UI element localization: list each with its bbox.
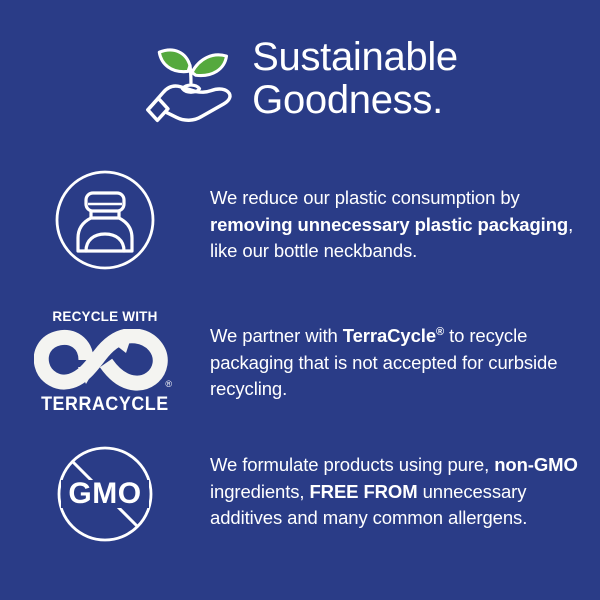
text-segment: We reduce our plastic consumption by: [210, 187, 520, 208]
feature-row-gmo: GMO We formulate products using pure, no…: [0, 442, 600, 546]
feature-row-terracycle: RECYCLE WITH ® TERRACYCLE We par: [0, 305, 600, 416]
text-segment-bold: removing unnecessary plastic packaging: [210, 214, 568, 235]
feature-row-plastic: We reduce our plastic consumption by rem…: [0, 168, 600, 272]
registered-trademark-superscript: ®: [436, 326, 444, 338]
text-segment-bold: FREE FROM: [309, 481, 417, 502]
text-segment-bold: TerraCycle: [343, 325, 436, 346]
feature-text-plastic: We reduce our plastic consumption by rem…: [210, 185, 584, 265]
text-segment: ingredients,: [210, 481, 309, 502]
header: Sustainable Goodness.: [0, 22, 600, 134]
sustainable-goodness-infographic: Sustainable Goodness.: [0, 0, 600, 600]
text-segment: We formulate products using pure,: [210, 454, 494, 475]
text-segment-bold: non-GMO: [494, 454, 578, 475]
terracycle-bottom-label: TERRACYCLE: [41, 394, 169, 416]
feature-text-gmo: We formulate products using pure, non-GM…: [210, 452, 584, 532]
infinity-recycle-arrows-icon: ®: [34, 329, 176, 391]
text-cell: We reduce our plastic consumption by rem…: [210, 168, 600, 265]
text-segment: We partner with: [210, 325, 343, 346]
hand-holding-sprout-icon: [142, 33, 238, 129]
icon-cell: [0, 168, 210, 272]
text-cell: We partner with TerraCycle® to recycle p…: [210, 305, 600, 403]
registered-trademark-icon: ®: [165, 380, 172, 389]
icon-cell: GMO: [0, 442, 210, 546]
bottle-neckband-icon: [53, 168, 157, 272]
text-cell: We formulate products using pure, non-GM…: [210, 442, 600, 532]
terracycle-top-label: RECYCLE WITH: [52, 309, 157, 325]
page-title: Sustainable Goodness.: [252, 36, 458, 122]
terracycle-logo: RECYCLE WITH ® TERRACYCLE: [34, 309, 176, 416]
no-gmo-icon: GMO: [53, 442, 157, 546]
icon-cell: RECYCLE WITH ® TERRACYCLE: [0, 305, 210, 416]
gmo-label: GMO: [68, 477, 141, 510]
feature-text-terracycle: We partner with TerraCycle® to recycle p…: [210, 323, 584, 403]
